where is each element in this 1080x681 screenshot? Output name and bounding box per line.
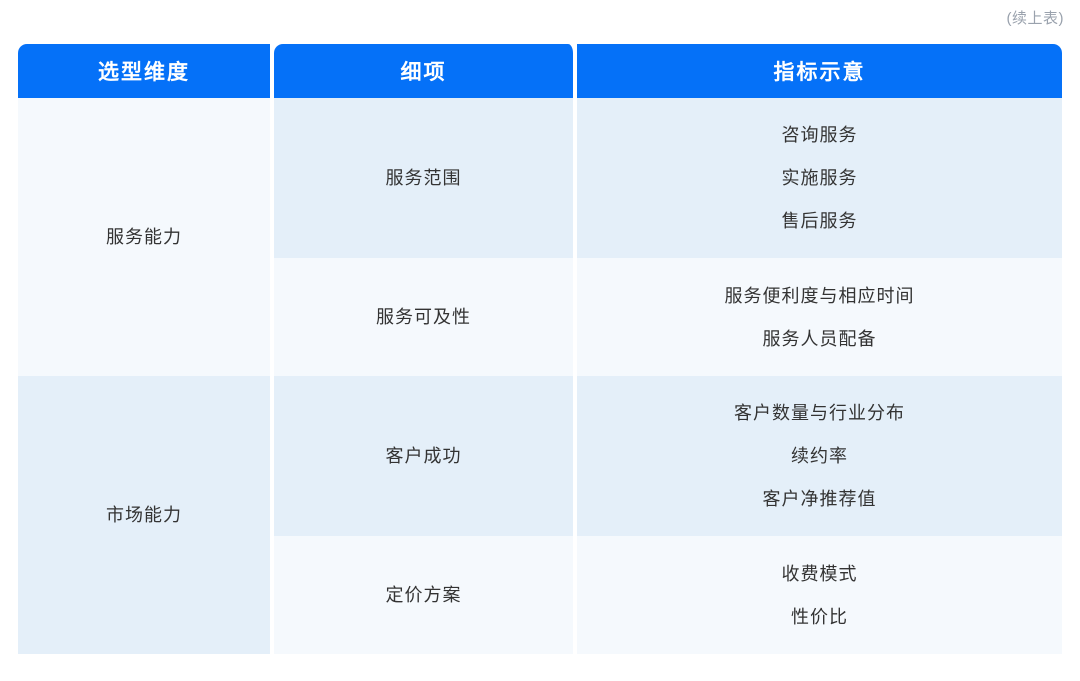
page-root: (续上表) 选型维度 细项 指标示意 服务能力	[0, 0, 1080, 681]
subitem-label: 服务范围	[274, 163, 573, 193]
dimension-label: 市场能力	[18, 500, 270, 530]
column-header-subitem: 细项	[274, 44, 577, 98]
column-header-indicator: 指标示意	[577, 44, 1062, 98]
selection-criteria-table-wrapper: 选型维度 细项 指标示意 服务能力 服务范围 咨询服务	[18, 44, 1062, 654]
selection-criteria-table: 选型维度 细项 指标示意 服务能力 服务范围 咨询服务	[18, 44, 1062, 654]
dimension-cell-service-capability: 服务能力	[18, 98, 274, 376]
indicator-list: 客户数量与行业分布 续约率 客户净推荐值	[577, 376, 1062, 536]
subitem-label: 定价方案	[274, 580, 573, 610]
table-row: 服务能力 服务范围 咨询服务 实施服务 售后服务	[18, 98, 1062, 258]
indicator-list: 服务便利度与相应时间 服务人员配备	[577, 258, 1062, 376]
dimension-cell-market-capability: 市场能力	[18, 376, 274, 654]
indicator-item: 客户数量与行业分布	[734, 398, 905, 428]
table-row: 市场能力 客户成功 客户数量与行业分布 续约率 客户净推荐值	[18, 376, 1062, 536]
table-header: 选型维度 细项 指标示意	[18, 44, 1062, 98]
indicator-item: 咨询服务	[782, 120, 858, 150]
indicator-item: 服务便利度与相应时间	[725, 281, 915, 311]
indicator-list: 咨询服务 实施服务 售后服务	[577, 98, 1062, 258]
indicator-cell-customer-success: 客户数量与行业分布 续约率 客户净推荐值	[577, 376, 1062, 536]
indicator-list: 收费模式 性价比	[577, 536, 1062, 654]
indicator-item: 服务人员配备	[763, 324, 877, 354]
table-body: 服务能力 服务范围 咨询服务 实施服务 售后服务	[18, 98, 1062, 654]
subitem-cell-customer-success: 客户成功	[274, 376, 577, 536]
subitem-cell-service-accessibility: 服务可及性	[274, 258, 577, 376]
indicator-item: 客户净推荐值	[763, 484, 877, 514]
indicator-item: 性价比	[791, 602, 848, 632]
column-header-dimension: 选型维度	[18, 44, 274, 98]
indicator-cell-pricing-plan: 收费模式 性价比	[577, 536, 1062, 654]
indicator-item: 售后服务	[782, 206, 858, 236]
indicator-cell-service-scope: 咨询服务 实施服务 售后服务	[577, 98, 1062, 258]
indicator-cell-service-accessibility: 服务便利度与相应时间 服务人员配备	[577, 258, 1062, 376]
indicator-item: 续约率	[791, 441, 848, 471]
continued-table-note: (续上表)	[1007, 8, 1065, 30]
subitem-cell-service-scope: 服务范围	[274, 98, 577, 258]
subitem-cell-pricing-plan: 定价方案	[274, 536, 577, 654]
dimension-label: 服务能力	[18, 222, 270, 252]
indicator-item: 收费模式	[782, 559, 858, 589]
indicator-item: 实施服务	[782, 163, 858, 193]
table-header-row: 选型维度 细项 指标示意	[18, 44, 1062, 98]
subitem-label: 客户成功	[274, 441, 573, 471]
subitem-label: 服务可及性	[274, 302, 573, 332]
